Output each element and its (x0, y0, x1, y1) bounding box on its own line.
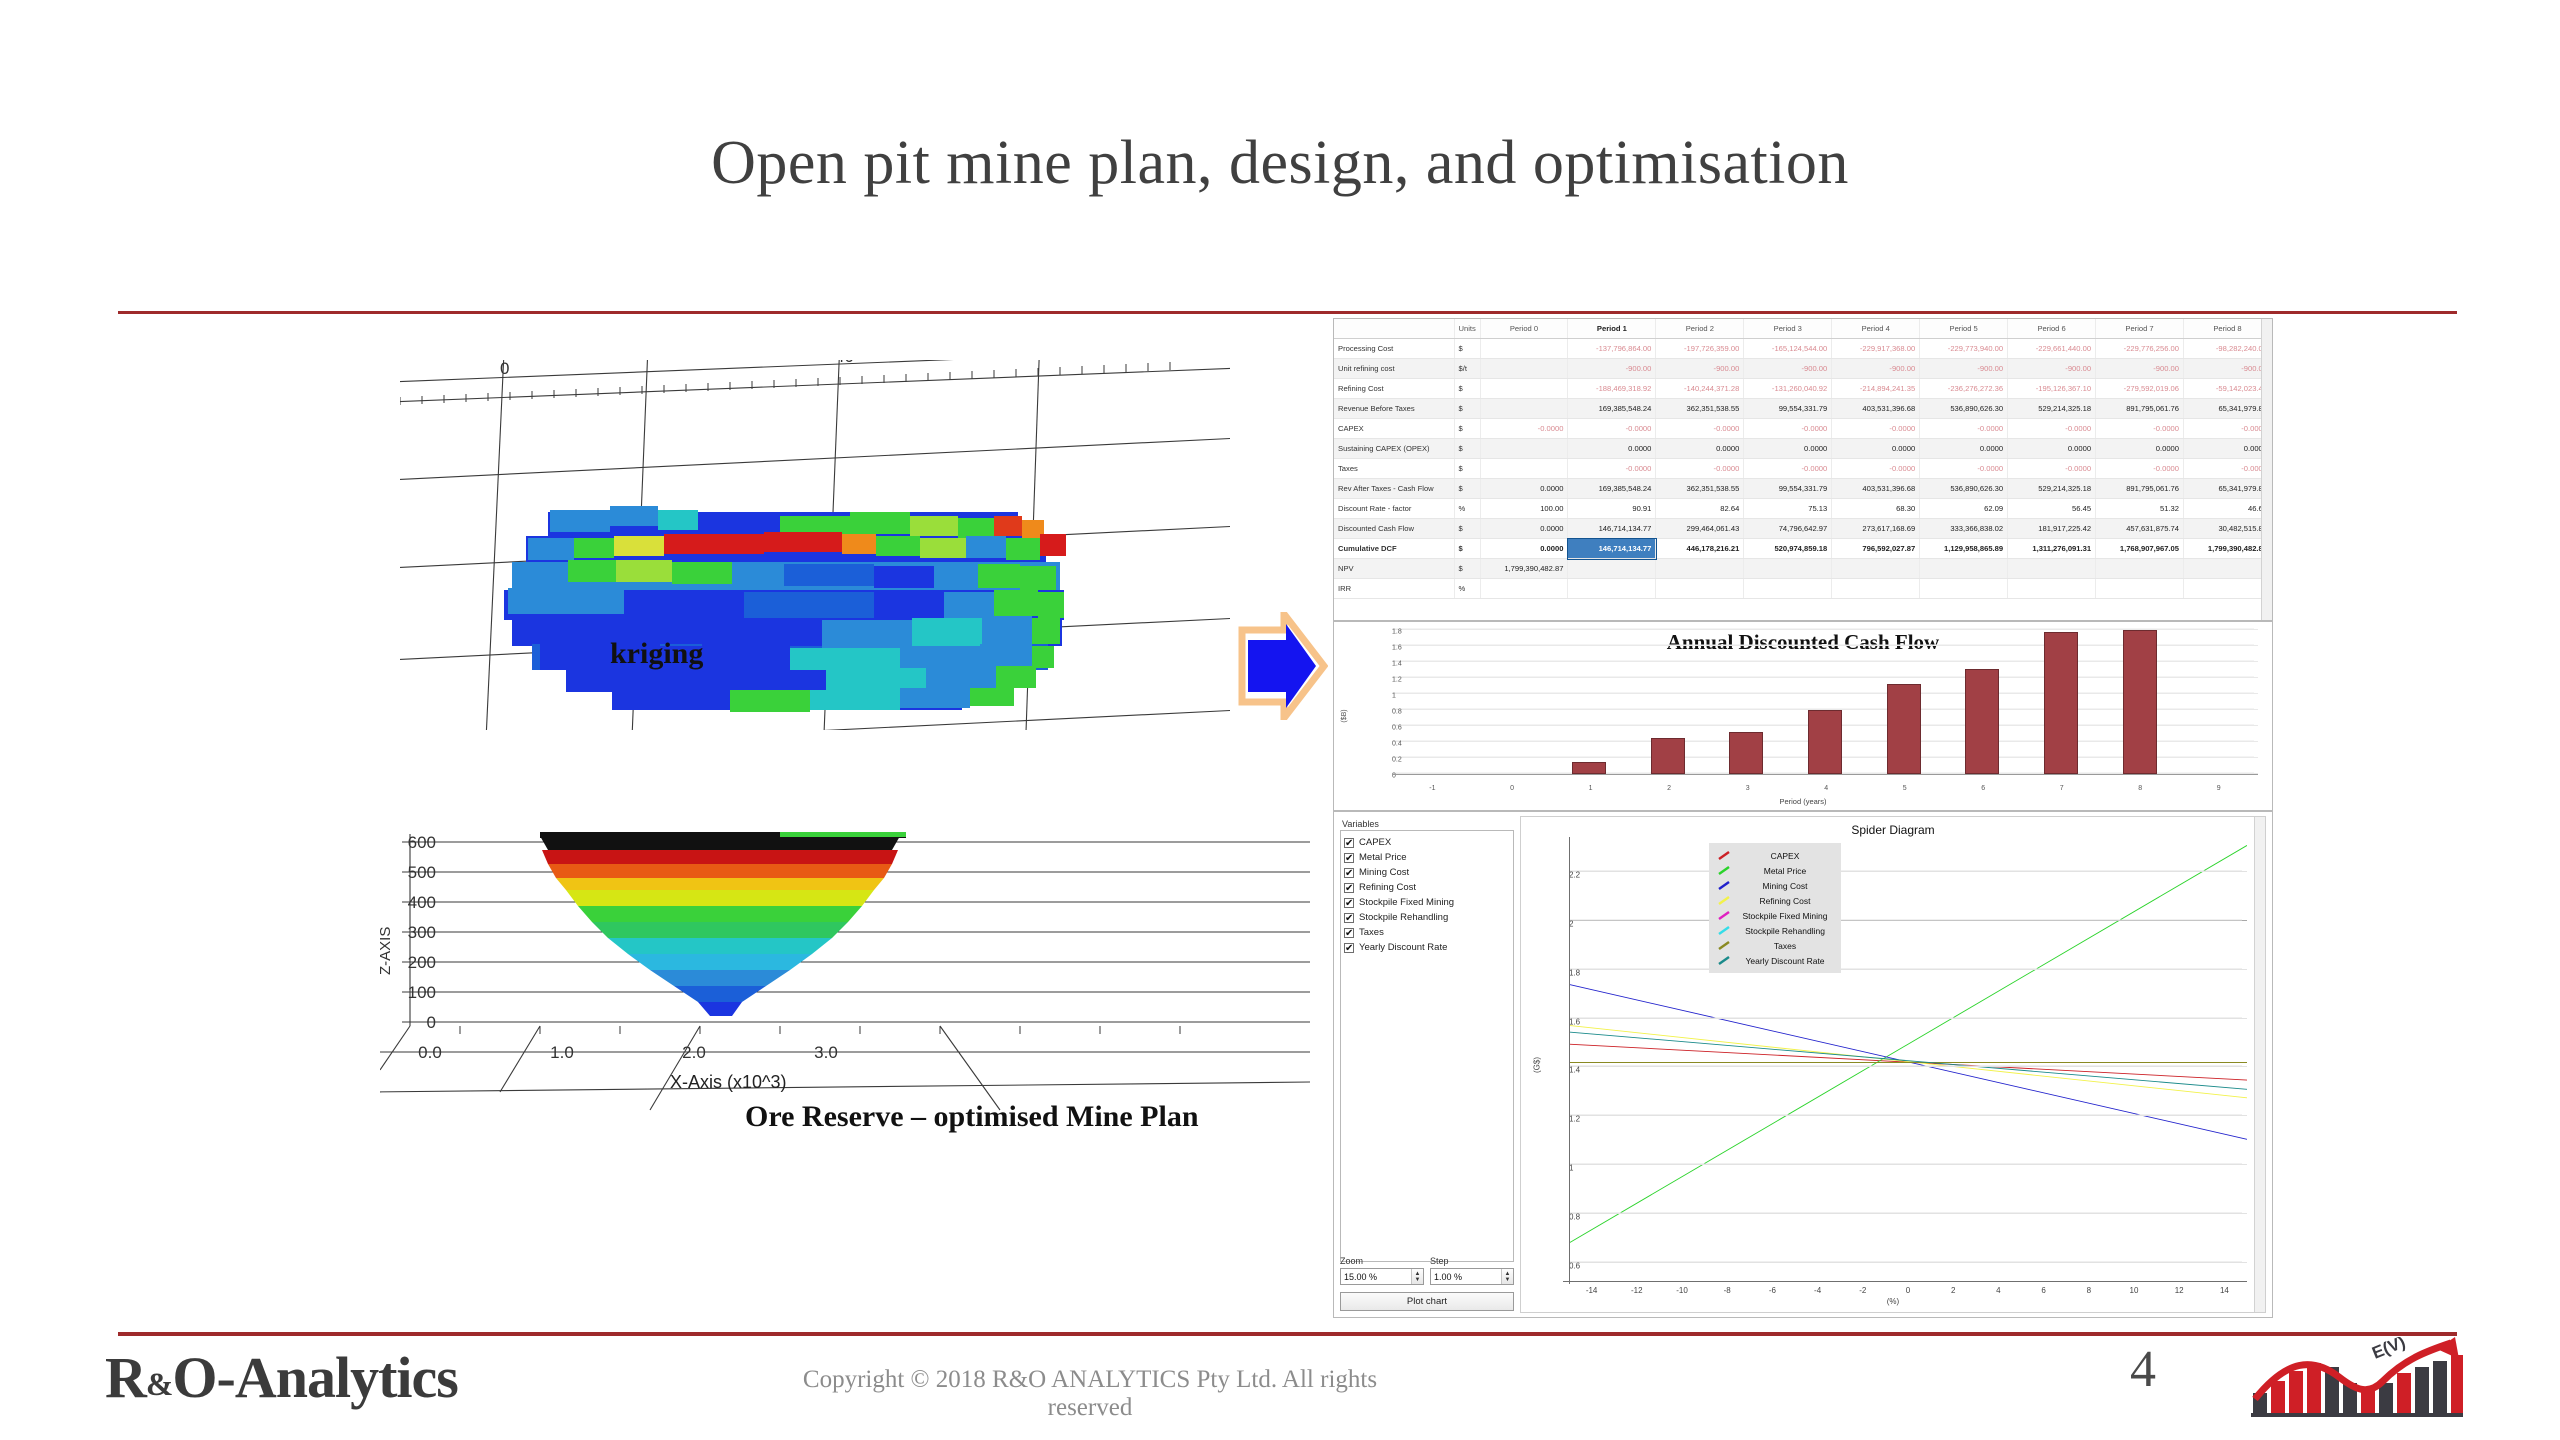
svg-text:3.0: 3.0 (814, 1043, 838, 1062)
table-cell[interactable]: 299,464,061.43 (1656, 519, 1744, 539)
table-cell[interactable]: -0.0000 (1744, 419, 1832, 439)
spider-gridline: 1.2 (1569, 1115, 2247, 1116)
table-cell[interactable]: 403,531,396.68 (1832, 399, 1920, 419)
table-cell[interactable]: 68.30 (1832, 499, 1920, 519)
table-cell[interactable]: -214,894,241.35 (1832, 379, 1920, 399)
slide-root: Open pit mine plan, design, and optimisa… (0, 0, 2560, 1440)
table-cell[interactable]: -229,773,940.00 (1920, 339, 2008, 359)
table-cell[interactable]: 181,917,225.42 (2008, 519, 2096, 539)
table-row[interactable]: Processing Cost$-137,796,864.00-197,726,… (1334, 339, 2272, 359)
table-cell[interactable]: -900.00 (2184, 359, 2272, 379)
table-cell[interactable] (2008, 579, 2096, 599)
spider-y-tick-label: 1.6 (1569, 1017, 2242, 1018)
svg-text:100: 100 (408, 983, 436, 1002)
table-cell[interactable] (1920, 579, 2008, 599)
checkbox-checked-icon[interactable] (1344, 928, 1354, 938)
legend-label: Metal Price (1737, 866, 1833, 876)
brand-right: O-Analytics (172, 1345, 457, 1410)
table-row-unit: $ (1454, 399, 1480, 419)
spider-legend-item: Yearly Discount Rate (1717, 953, 1833, 968)
table-cell[interactable] (2096, 559, 2184, 579)
table-cell[interactable]: 0.0000 (1480, 479, 1568, 499)
table-cell[interactable] (1656, 579, 1744, 599)
spider-diagram-panel: Variables CAPEXMetal PriceMining CostRef… (1333, 811, 2273, 1318)
brand-left: R (105, 1345, 146, 1410)
variable-checkbox-row[interactable]: Refining Cost (1344, 880, 1510, 895)
variable-label: Yearly Discount Rate (1359, 940, 1447, 955)
table-cell[interactable]: 0.0000 (1920, 439, 2008, 459)
table-row-label: NPV (1334, 559, 1454, 579)
table-cell[interactable]: 146,714,134.77 (1568, 519, 1656, 539)
table-cell[interactable]: 65,341,979.82 (2184, 479, 2272, 499)
footer-divider (118, 1332, 2457, 1336)
dcf-x-tick-label: 4 (1824, 785, 1828, 792)
svg-text:200: 200 (408, 953, 436, 972)
variable-checkbox-row[interactable]: CAPEX (1344, 835, 1510, 850)
table-row[interactable]: CAPEX$-0.0000-0.0000-0.0000-0.0000-0.000… (1334, 419, 2272, 439)
dcf-bar (2123, 630, 2157, 774)
variable-checkbox-row[interactable]: Stockpile Rehandling (1344, 910, 1510, 925)
spider-scrollbar[interactable] (2254, 817, 2265, 1312)
step-spinner-arrows[interactable]: ▲▼ (1501, 1269, 1513, 1284)
annual-dcf-chart-panel: Annual Discounted Cash Flow ($B) 00.20.4… (1333, 621, 2273, 811)
svg-text:500: 500 (408, 863, 436, 882)
legend-color-swatch (1717, 850, 1731, 861)
table-cell[interactable]: 891,795,061.76 (2096, 399, 2184, 419)
table-cell[interactable] (1920, 559, 2008, 579)
table-cell[interactable]: -236,276,272.36 (1920, 379, 2008, 399)
dcf-bar (2044, 632, 2078, 774)
table-cell[interactable]: -0.0000 (1832, 459, 1920, 479)
dcf-x-axis-label: Period (years) (1334, 797, 2272, 806)
table-cell[interactable]: 100.00 (1480, 499, 1568, 519)
table-cell[interactable]: -900.00 (2096, 359, 2184, 379)
kriging-caption: kriging (610, 637, 703, 671)
spider-x-tick-label: -12 (1631, 1286, 1643, 1295)
legend-label: Mining Cost (1737, 881, 1833, 891)
variable-label: Refining Cost (1359, 880, 1416, 895)
table-cell[interactable]: -195,126,367.10 (2008, 379, 2096, 399)
legend-color-swatch (1717, 895, 1731, 906)
page-number: 4 (2130, 1340, 2156, 1399)
table-cell[interactable]: 99,554,331.79 (1744, 479, 1832, 499)
table-cell[interactable] (1568, 559, 1656, 579)
table-row-label: Discount Rate - factor (1334, 499, 1454, 519)
table-cell[interactable] (1480, 339, 1568, 359)
table-cell[interactable] (1744, 579, 1832, 599)
table-row[interactable]: Refining Cost$-188,469,318.92-140,244,37… (1334, 379, 2272, 399)
table-cell[interactable]: -165,124,544.00 (1744, 339, 1832, 359)
table-cell[interactable]: -140,244,371.28 (1656, 379, 1744, 399)
table-cell[interactable]: 536,890,626.30 (1920, 479, 2008, 499)
table-col-header[interactable]: Period 2 (1656, 319, 1744, 339)
table-col-header[interactable]: Period 8 (2184, 319, 2272, 339)
table-cell[interactable]: 0.0000 (2184, 439, 2272, 459)
legend-label: CAPEX (1737, 851, 1833, 861)
table-cell[interactable]: 90.91 (1568, 499, 1656, 519)
step-label: Step (1430, 1256, 1514, 1266)
table-cell[interactable]: 75.13 (1744, 499, 1832, 519)
spider-x-tick-label: 14 (2220, 1286, 2229, 1295)
spider-x-tick-label: 2 (1951, 1286, 1955, 1295)
flow-arrow-icon (1228, 612, 1328, 720)
table-row[interactable]: Unit refining cost$/t-900.00-900.00-900.… (1334, 359, 2272, 379)
spider-legend-item: Mining Cost (1717, 878, 1833, 893)
table-cell[interactable]: 0.0000 (2096, 439, 2184, 459)
table-row-label: CAPEX (1334, 419, 1454, 439)
table-cell[interactable]: -900.00 (1568, 359, 1656, 379)
table-cell[interactable]: 0.0000 (1480, 539, 1568, 559)
table-row-unit: $/t (1454, 359, 1480, 379)
table-col-header[interactable]: Period 7 (2096, 319, 2184, 339)
table-cell[interactable] (1480, 579, 1568, 599)
table-cell[interactable]: -0.0000 (1568, 419, 1656, 439)
variable-checkbox-row[interactable]: Taxes (1344, 925, 1510, 940)
table-cell[interactable]: 362,351,538.55 (1656, 399, 1744, 419)
kriging-tick-0: 0 (500, 360, 509, 378)
cash-flow-table-panel[interactable]: UnitsPeriod 0Period 1Period 2Period 3Per… (1333, 318, 2273, 621)
table-cell[interactable]: -900.00 (1832, 359, 1920, 379)
checkbox-checked-icon[interactable] (1344, 883, 1354, 893)
dcf-x-tick-label: -1 (1429, 785, 1435, 792)
table-cell[interactable]: -0.0000 (2184, 419, 2272, 439)
spider-series-line (1569, 845, 2247, 1243)
table-cell[interactable]: 796,592,027.87 (1832, 539, 1920, 559)
dcf-x-tick-label: 9 (2217, 785, 2221, 792)
step-field: Step 1.00 % ▲▼ (1430, 1256, 1514, 1285)
table-cell[interactable] (1832, 579, 1920, 599)
svg-text:300: 300 (408, 923, 436, 942)
variable-label: Stockpile Fixed Mining (1359, 895, 1454, 910)
zoom-spinner-arrows[interactable]: ▲▼ (1411, 1269, 1423, 1284)
spider-x-tick-label: -6 (1769, 1286, 1776, 1295)
svg-text:1.0: 1.0 (550, 1043, 574, 1062)
svg-text:600: 600 (408, 833, 436, 852)
dcf-bar (1572, 762, 1606, 774)
table-cell[interactable]: 891,795,061.76 (2096, 479, 2184, 499)
ev-logo-icon: E(V) (2247, 1337, 2465, 1419)
zoom-step-controls: Zoom 15.00 % ▲▼ Step 1.00 % ▲▼ (1340, 1256, 1514, 1285)
spider-legend-item: CAPEX (1717, 848, 1833, 863)
table-cell[interactable] (2096, 579, 2184, 599)
mine-economics-app: UnitsPeriod 0Period 1Period 2Period 3Per… (1333, 318, 2273, 1318)
table-cell[interactable]: -131,260,040.92 (1744, 379, 1832, 399)
dcf-x-axis-line (1392, 774, 2258, 775)
checkbox-checked-icon[interactable] (1344, 838, 1354, 848)
table-row-label: IRR (1334, 579, 1454, 599)
table-cell[interactable]: -229,917,368.00 (1832, 339, 1920, 359)
table-row[interactable]: Sustaining CAPEX (OPEX)$0.00000.00000.00… (1334, 439, 2272, 459)
table-cell[interactable]: 0.0000 (1832, 439, 1920, 459)
table-cell[interactable]: -229,661,440.00 (2008, 339, 2096, 359)
table-row-unit: $ (1454, 339, 1480, 359)
table-row[interactable]: Cumulative DCF$0.0000146,714,134.77446,1… (1334, 539, 2272, 559)
table-cell[interactable] (1656, 559, 1744, 579)
spider-series-line (1569, 1025, 2247, 1097)
variable-label: CAPEX (1359, 835, 1391, 850)
table-cell[interactable]: 333,366,838.02 (1920, 519, 2008, 539)
table-cell[interactable]: -900.00 (1744, 359, 1832, 379)
table-cell[interactable]: -900.00 (1920, 359, 2008, 379)
table-row[interactable]: Rev After Taxes - Cash Flow$0.0000169,38… (1334, 479, 2272, 499)
table-row-unit: $ (1454, 459, 1480, 479)
step-value[interactable]: 1.00 % (1431, 1272, 1501, 1282)
table-cell[interactable]: 82.64 (1656, 499, 1744, 519)
table-cell[interactable]: -98,282,240.00 (2184, 339, 2272, 359)
dcf-bar (1808, 710, 1842, 774)
table-cell[interactable] (2008, 559, 2096, 579)
table-cell[interactable]: 0.0000 (1480, 519, 1568, 539)
pit-shell-figure: Z-AXIS 600500400 300200100 0 0.01.0 2.03… (380, 820, 1310, 1140)
table-row-unit: $ (1454, 539, 1480, 559)
table-cell[interactable] (1480, 379, 1568, 399)
legend-label: Taxes (1737, 941, 1833, 951)
table-row-unit: $ (1454, 379, 1480, 399)
block-model-voxels (504, 506, 1066, 712)
checkbox-checked-icon[interactable] (1344, 853, 1354, 863)
variables-box: Variables CAPEXMetal PriceMining CostRef… (1340, 818, 1514, 1268)
table-row[interactable]: Discount Rate - factor%100.0090.9182.647… (1334, 499, 2272, 519)
legend-color-swatch (1717, 925, 1731, 936)
table-cell[interactable]: 0.0000 (1568, 439, 1656, 459)
table-cell[interactable]: -197,726,359.00 (1656, 339, 1744, 359)
table-cell[interactable]: -279,592,019.06 (2096, 379, 2184, 399)
zoom-value[interactable]: 15.00 % (1341, 1272, 1411, 1282)
spider-gridline: 2 (1569, 920, 2247, 921)
table-cell[interactable] (1480, 359, 1568, 379)
svg-text:0.0: 0.0 (418, 1043, 442, 1062)
variable-checkbox-row[interactable]: Yearly Discount Rate (1344, 940, 1510, 955)
kriging-tick-40: 40 (835, 360, 854, 366)
table-cell[interactable]: -0.0000 (1832, 419, 1920, 439)
table-cell[interactable]: -59,142,023.42 (2184, 379, 2272, 399)
table-cell[interactable]: 520,974,859.18 (1744, 539, 1832, 559)
variable-checkbox-row[interactable]: Mining Cost (1344, 865, 1510, 880)
spider-y-tick-label: 0.8 (1569, 1212, 2242, 1213)
table-cell[interactable]: 65,341,979.82 (2184, 399, 2272, 419)
table-cell[interactable]: 1,799,390,482.87 (1480, 559, 1568, 579)
table-cell[interactable]: 403,531,396.68 (1832, 479, 1920, 499)
table-cell[interactable]: 536,890,626.30 (1920, 399, 2008, 419)
table-cell[interactable]: 169,385,548.24 (1568, 399, 1656, 419)
spider-gridline: 1.6 (1569, 1018, 2247, 1019)
brand-logo: R&O-Analytics (105, 1344, 458, 1411)
pit-x-axis-label: X-Axis (x10^3) (670, 1072, 786, 1092)
spider-legend-item: Refining Cost (1717, 893, 1833, 908)
step-stepper[interactable]: 1.00 % ▲▼ (1430, 1268, 1514, 1285)
dcf-bar (1651, 738, 1685, 774)
table-row[interactable]: Discounted Cash Flow$0.0000146,714,134.7… (1334, 519, 2272, 539)
pit-shell-svg: Z-AXIS 600500400 300200100 0 0.01.0 2.03… (380, 820, 1310, 1140)
table-cell[interactable]: 146,714,134.77 (1568, 539, 1656, 559)
table-cell[interactable]: 529,214,325.18 (2008, 479, 2096, 499)
cash-flow-table[interactable]: UnitsPeriod 0Period 1Period 2Period 3Per… (1334, 319, 2272, 599)
table-cell[interactable]: 0.0000 (1656, 439, 1744, 459)
table-cell[interactable]: 51.32 (2096, 499, 2184, 519)
spider-y-axis-label: (G$) (1533, 1057, 1542, 1073)
table-cell[interactable]: 0.0000 (2008, 439, 2096, 459)
spider-y-tick-label: 0.6 (1569, 1261, 2242, 1262)
table-col-header[interactable]: Period 5 (1920, 319, 2008, 339)
table-cell[interactable]: -0.0000 (1656, 419, 1744, 439)
variables-title: Variables (1340, 818, 1514, 830)
spider-y-tick-label: 1.2 (1569, 1115, 2242, 1116)
spider-gridline: 0.8 (1569, 1213, 2247, 1214)
table-cell[interactable] (1480, 439, 1568, 459)
table-col-header[interactable]: Period 4 (1832, 319, 1920, 339)
table-row-label: Unit refining cost (1334, 359, 1454, 379)
legend-label: Yearly Discount Rate (1737, 956, 1833, 966)
table-cell[interactable]: 46.65 (2184, 499, 2272, 519)
table-cell[interactable]: 1,768,907,967.05 (2096, 539, 2184, 559)
dcf-x-tick-label: 0 (1510, 785, 1514, 792)
spider-chart: Spider Diagram (G$) 0.60.811.21.41.61.82… (1520, 816, 2266, 1313)
spider-chart-title: Spider Diagram (1521, 823, 2265, 837)
table-cell[interactable]: -137,796,864.00 (1568, 339, 1656, 359)
table-cell[interactable]: 0.0000 (1744, 439, 1832, 459)
table-row-label: Processing Cost (1334, 339, 1454, 359)
checkbox-checked-icon[interactable] (1344, 898, 1354, 908)
table-col-header[interactable] (1334, 319, 1454, 339)
table-cell[interactable]: -0.0000 (1480, 419, 1568, 439)
table-cell[interactable]: -0.0000 (2008, 419, 2096, 439)
table-col-header[interactable]: Period 3 (1744, 319, 1832, 339)
spider-x-tick-label: -14 (1586, 1286, 1598, 1295)
table-cell[interactable]: 446,178,216.21 (1656, 539, 1744, 559)
legend-color-swatch (1717, 940, 1731, 951)
table-cell[interactable]: -0.0000 (2096, 419, 2184, 439)
table-col-header[interactable]: Period 0 (1480, 319, 1568, 339)
checkbox-checked-icon[interactable] (1344, 913, 1354, 923)
spider-gridline: 1 (1569, 1164, 2247, 1165)
table-row-unit: % (1454, 499, 1480, 519)
kriging-svg: 0 40 (400, 360, 1230, 730)
dcf-bar (1965, 669, 1999, 774)
svg-text:0: 0 (427, 1013, 436, 1032)
plot-chart-button[interactable]: Plot chart (1340, 1292, 1514, 1311)
table-scrollbar[interactable] (2261, 319, 2272, 620)
spider-y-axis-line (1569, 837, 1570, 1284)
variable-checkbox-row[interactable]: Metal Price (1344, 850, 1510, 865)
table-row[interactable]: Taxes$-0.0000-0.0000-0.0000-0.0000-0.000… (1334, 459, 2272, 479)
variables-list[interactable]: CAPEXMetal PriceMining CostRefining Cost… (1340, 830, 1514, 1262)
zoom-label: Zoom (1340, 1256, 1424, 1266)
spider-legend-item: Metal Price (1717, 863, 1833, 878)
legend-color-swatch (1717, 910, 1731, 921)
table-cell[interactable] (1480, 459, 1568, 479)
spider-legend: CAPEXMetal PriceMining CostRefining Cost… (1709, 843, 1841, 973)
spider-x-tick-label: 6 (2041, 1286, 2045, 1295)
table-row-unit: $ (1454, 479, 1480, 499)
dcf-x-tick-label: 2 (1667, 785, 1671, 792)
table-cell[interactable]: -0.0000 (1920, 459, 2008, 479)
table-cell[interactable]: -0.0000 (2096, 459, 2184, 479)
table-cell[interactable]: -188,469,318.92 (1568, 379, 1656, 399)
table-cell[interactable] (1744, 559, 1832, 579)
dcf-plot-area: 00.20.40.60.811.21.41.61.8 (1392, 630, 2258, 774)
table-cell[interactable]: 169,385,548.24 (1568, 479, 1656, 499)
table-row-label: Refining Cost (1334, 379, 1454, 399)
table-header-row: UnitsPeriod 0Period 1Period 2Period 3Per… (1334, 319, 2272, 339)
variable-checkbox-row[interactable]: Stockpile Fixed Mining (1344, 895, 1510, 910)
table-cell[interactable]: -0.0000 (1744, 459, 1832, 479)
checkbox-checked-icon[interactable] (1344, 868, 1354, 878)
table-cell[interactable]: 362,351,538.55 (1656, 479, 1744, 499)
spider-y-tick-label: 1.4 (1569, 1066, 2242, 1067)
table-row-unit: $ (1454, 419, 1480, 439)
ev-logo-text: E(V) (2369, 1337, 2408, 1363)
table-cell[interactable]: 273,617,168.69 (1832, 519, 1920, 539)
table-row[interactable]: NPV$1,799,390,482.87 (1334, 559, 2272, 579)
table-cell[interactable]: -0.0000 (1656, 459, 1744, 479)
table-cell[interactable]: 74,796,642.97 (1744, 519, 1832, 539)
table-cell[interactable]: 99,554,331.79 (1744, 399, 1832, 419)
pit-benches (540, 836, 900, 1016)
table-cell[interactable]: 62.09 (1920, 499, 2008, 519)
table-cell[interactable]: 1,311,276,091.31 (2008, 539, 2096, 559)
table-cell[interactable]: 1,129,958,865.89 (1920, 539, 2008, 559)
table-cell[interactable]: 1,799,390,482.87 (2184, 539, 2272, 559)
checkbox-checked-icon[interactable] (1344, 943, 1354, 953)
table-row[interactable]: IRR% (1334, 579, 2272, 599)
table-cell[interactable]: -900.00 (1656, 359, 1744, 379)
table-cell[interactable]: -0.0000 (1920, 419, 2008, 439)
table-col-header[interactable]: Period 6 (2008, 319, 2096, 339)
dcf-x-tick-label: 6 (1981, 785, 1985, 792)
legend-label: Refining Cost (1737, 896, 1833, 906)
legend-color-swatch (1717, 880, 1731, 891)
table-row-label: Revenue Before Taxes (1334, 399, 1454, 419)
zoom-stepper[interactable]: 15.00 % ▲▼ (1340, 1268, 1424, 1285)
table-cell[interactable]: 30,482,515.82 (2184, 519, 2272, 539)
table-cell[interactable]: -0.0000 (2184, 459, 2272, 479)
table-cell[interactable] (1832, 559, 1920, 579)
spider-x-tick-label: -8 (1724, 1286, 1731, 1295)
table-row-unit: $ (1454, 559, 1480, 579)
spider-x-tick-label: 8 (2087, 1286, 2091, 1295)
table-cell[interactable] (2184, 579, 2272, 599)
spider-y-tick-label: 2 (1569, 920, 2242, 921)
table-cell[interactable]: -900.00 (2008, 359, 2096, 379)
pit-z-axis-label: Z-AXIS (380, 927, 394, 975)
table-cell[interactable]: -0.0000 (1568, 459, 1656, 479)
zoom-field: Zoom 15.00 % ▲▼ (1340, 1256, 1424, 1285)
svg-text:400: 400 (408, 893, 436, 912)
table-cell[interactable]: 457,631,875.74 (2096, 519, 2184, 539)
spider-x-tick-label: -2 (1859, 1286, 1866, 1295)
dcf-bar (1887, 684, 1921, 774)
table-cell[interactable] (2184, 559, 2272, 579)
table-cell[interactable]: 56.45 (2008, 499, 2096, 519)
table-cell[interactable]: 529,214,325.18 (2008, 399, 2096, 419)
table-row[interactable]: Revenue Before Taxes$169,385,548.24362,3… (1334, 399, 2272, 419)
header-divider (118, 311, 2457, 314)
table-cell[interactable]: -0.0000 (2008, 459, 2096, 479)
spider-x-axis-label: (%) (1521, 1297, 2265, 1306)
dcf-x-tick-labels: -10123456789 (1392, 785, 2258, 792)
spider-legend-item: Taxes (1717, 938, 1833, 953)
spider-gridline: 2.2 (1569, 871, 2247, 872)
table-cell[interactable] (1568, 579, 1656, 599)
table-cell[interactable] (1480, 399, 1568, 419)
kriging-block-model-figure: 0 40 (400, 360, 1230, 730)
table-col-header[interactable]: Period 1 (1568, 319, 1656, 339)
dcf-x-tick-label: 5 (1903, 785, 1907, 792)
dcf-bar (1729, 732, 1763, 774)
table-cell[interactable]: -229,776,256.00 (2096, 339, 2184, 359)
copyright-text: Copyright © 2018 R&O ANALYTICS Pty Ltd. … (770, 1366, 1410, 1422)
table-col-header[interactable]: Units (1454, 319, 1480, 339)
